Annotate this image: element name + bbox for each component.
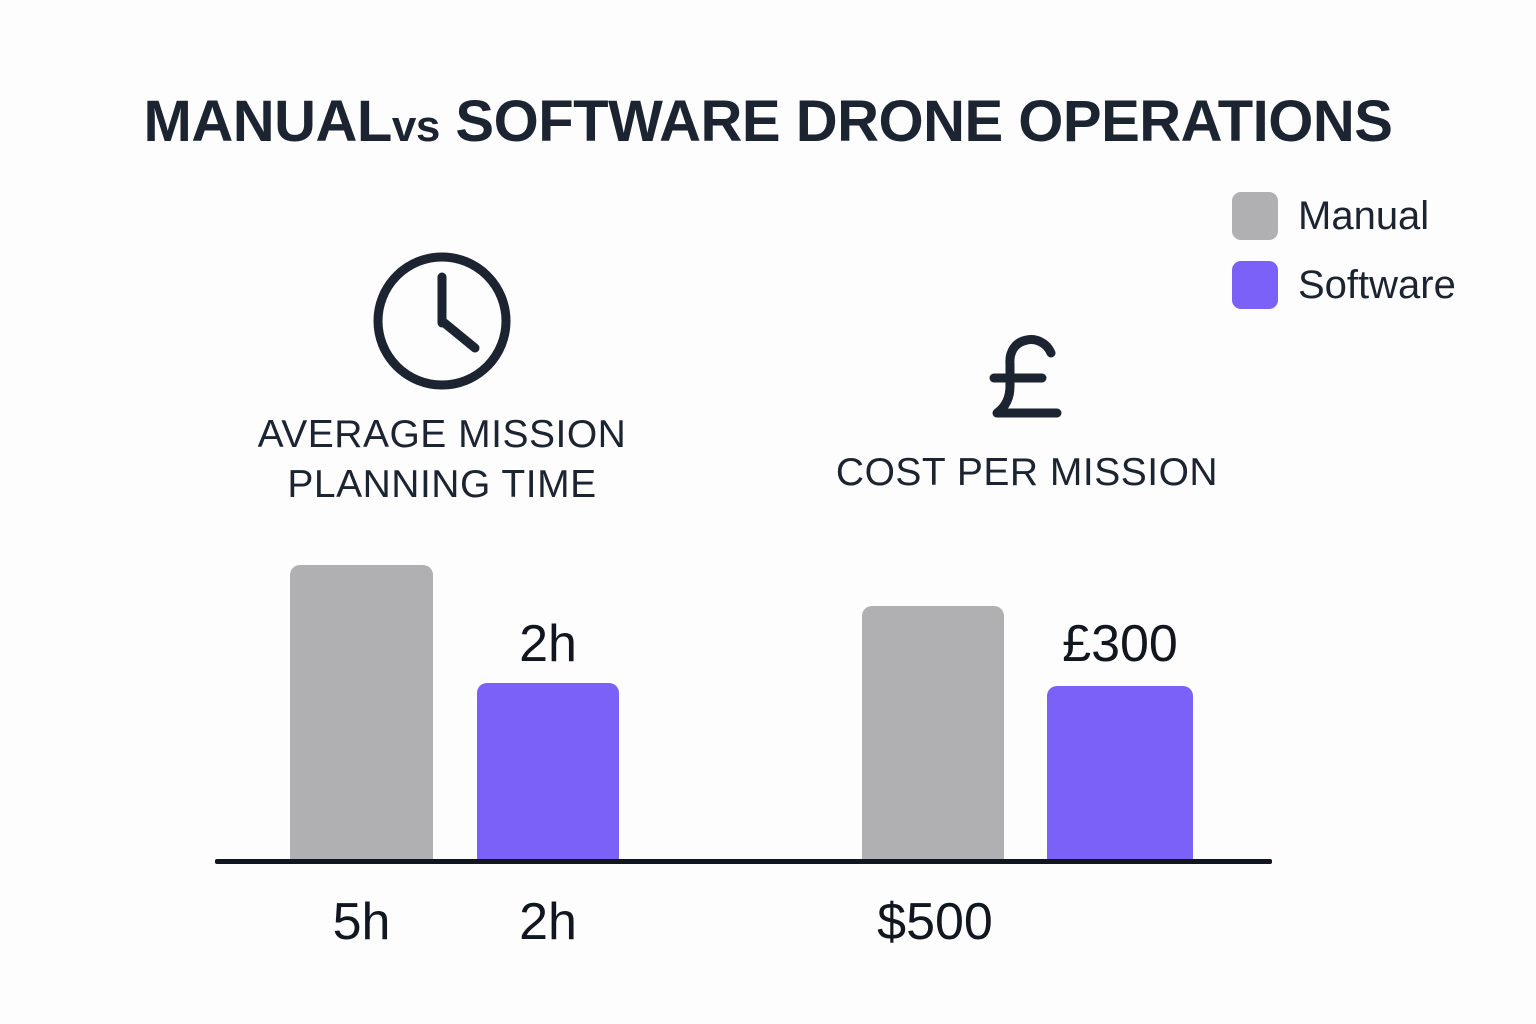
bar-tick-label-manual-planning-time: 5h bbox=[290, 896, 433, 948]
bar-manual-cost-per-mission[interactable] bbox=[862, 606, 1004, 862]
bar-value-label-software-cost-per-mission: £300 bbox=[1040, 618, 1200, 670]
bar-tick-label-software-planning-time: 2h bbox=[477, 896, 619, 948]
bar-software-cost-per-mission[interactable] bbox=[1047, 686, 1193, 862]
axis-baseline bbox=[215, 859, 1272, 864]
infographic-canvas: MANUALvs SOFTWARE DRONE OPERATIONS Manua… bbox=[0, 0, 1536, 1024]
bar-manual-planning-time[interactable] bbox=[290, 565, 433, 862]
bar-tick-label-manual-cost-per-mission: $500 bbox=[855, 896, 1015, 948]
bar-software-planning-time[interactable] bbox=[477, 683, 619, 862]
plot-area: 2h 5h 2h £300 $500 bbox=[0, 0, 1536, 1024]
bar-value-label-software-planning-time: 2h bbox=[477, 618, 619, 670]
